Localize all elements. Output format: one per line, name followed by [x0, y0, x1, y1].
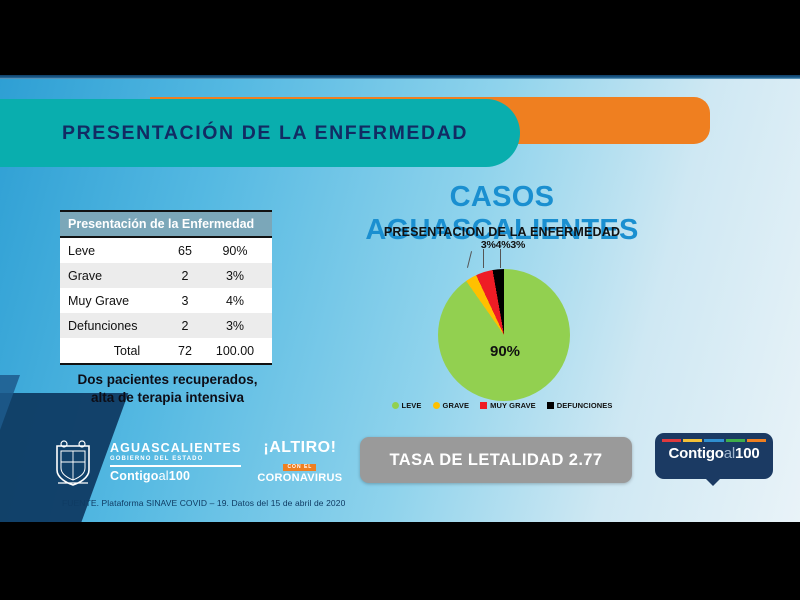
legend-swatch-grave — [433, 402, 440, 409]
cell-name: Total — [68, 344, 164, 358]
cell-count: 72 — [164, 344, 206, 358]
contigo-al: al — [724, 445, 735, 462]
header-teal-banner: PRESENTACIÓN DE LA ENFERMEDAD — [0, 99, 520, 167]
pie-outer-labels: 3%4%3% — [398, 239, 608, 251]
cell-count: 3 — [164, 294, 206, 308]
bar-yellow — [683, 439, 702, 442]
pie-leader-line-3 — [500, 249, 501, 268]
pie-chart: 90% — [420, 255, 590, 405]
banner-title: PRESENTACIÓN DE LA ENFERMEDAD — [62, 122, 468, 145]
chart-subtitle: PRESENTACION DE LA ENFERMEDAD — [322, 225, 682, 239]
legend-swatch-leve — [392, 402, 399, 409]
cell-count: 2 — [164, 319, 206, 333]
legend-item-grave: GRAVE — [433, 401, 470, 410]
source-footnote: FUENTE. Plataforma SINAVE COVID – 19. Da… — [62, 498, 345, 508]
gob-al: al — [159, 469, 169, 483]
letterbox-bottom — [0, 522, 800, 600]
aguascalientes-coat-of-arms-icon — [52, 438, 94, 486]
table-row: Defunciones 2 3% — [60, 313, 272, 338]
legend-item-muy-grave: MUY GRAVE — [480, 401, 536, 410]
gob-100: 100 — [169, 469, 190, 483]
pie-label-defunciones: 3% — [510, 239, 525, 251]
gob-line-2: GOBIERNO DEL ESTADO — [110, 456, 241, 462]
cell-percent: 3% — [206, 319, 264, 333]
cell-percent: 100.00 — [206, 344, 264, 358]
slide-screenshot: PRESENTACIÓN DE LA ENFERMEDAD Presentaci… — [0, 0, 800, 600]
legend-swatch-defunciones — [547, 402, 554, 409]
altiro-line-3: CORONAVIRUS — [257, 473, 342, 484]
gob-contigo: Contigo — [110, 469, 159, 483]
note-line-1: Dos pacientes recuperados, — [60, 371, 275, 389]
cell-percent: 90% — [206, 244, 264, 258]
table-header: Presentación de la Enfermedad — [60, 212, 272, 238]
cell-percent: 3% — [206, 269, 264, 283]
cell-name: Grave — [68, 269, 164, 283]
legend-item-defunciones: DEFUNCIONES — [547, 401, 613, 410]
legend-item-leve: LEVE — [392, 401, 422, 410]
table-row: Muy Grave 3 4% — [60, 288, 272, 313]
altiro-line-1: ¡ALTIRO! — [257, 440, 342, 456]
contigo-main: Contigo — [669, 445, 724, 462]
legend-swatch-muy-grave — [480, 402, 487, 409]
letterbox-top — [0, 0, 800, 75]
cell-count: 2 — [164, 269, 206, 283]
table-row: Grave 2 3% — [60, 263, 272, 288]
pie-disc — [438, 269, 570, 401]
table-row: Leve 65 90% — [60, 238, 272, 263]
gob-line-3: Contigoal100 — [110, 470, 241, 483]
gob-line-1: AGUASCALIENTES — [110, 442, 241, 455]
cell-name: Leve — [68, 244, 164, 258]
pie-label-grave: 3% — [481, 239, 496, 251]
gobierno-estado-logo: AGUASCALIENTES GOBIERNO DEL ESTADO Conti… — [110, 442, 241, 483]
pie-leader-line-2 — [483, 249, 484, 268]
footer-logos: AGUASCALIENTES GOBIERNO DEL ESTADO Conti… — [52, 438, 342, 486]
cell-name: Defunciones — [68, 319, 164, 333]
bar-blue — [704, 439, 723, 442]
legend-label-defunciones: DEFUNCIONES — [557, 401, 613, 410]
cell-count: 65 — [164, 244, 206, 258]
contigo-bubble-tail — [705, 478, 721, 486]
cell-percent: 4% — [206, 294, 264, 308]
cell-name: Muy Grave — [68, 294, 164, 308]
table-row-total: Total 72 100.00 — [60, 338, 272, 363]
bar-green — [726, 439, 745, 442]
contigo-al-100-logo: Contigoal100 — [655, 433, 773, 479]
fatality-rate-box: TASA DE LETALIDAD 2.77 — [360, 437, 632, 483]
pie-label-muy-grave: 4% — [496, 239, 511, 251]
note-line-2: alta de terapia intensiva — [60, 389, 275, 407]
legend-label-muy-grave: MUY GRAVE — [490, 401, 536, 410]
presentation-slide: PRESENTACIÓN DE LA ENFERMEDAD Presentaci… — [0, 75, 800, 522]
altiro-line-2: CON EL — [283, 464, 316, 471]
pie-label-leve: 90% — [470, 343, 540, 360]
legend-label-grave: GRAVE — [443, 401, 470, 410]
top-accent-line — [0, 75, 800, 79]
contigo-color-bars — [655, 433, 773, 442]
legend-label-leve: LEVE — [402, 401, 422, 410]
chart-legend: LEVE GRAVE MUY GRAVE DEFUNCIONES — [322, 401, 682, 410]
contigo-100: 100 — [735, 445, 759, 462]
disease-presentation-table: Presentación de la Enfermedad Leve 65 90… — [60, 210, 272, 365]
bar-orange — [747, 439, 766, 442]
bar-red — [662, 439, 681, 442]
gob-divider — [110, 465, 241, 467]
contigo-text: Contigoal100 — [655, 445, 773, 462]
altiro-coronavirus-logo: ¡ALTIRO! CON EL CORONAVIRUS — [257, 440, 342, 484]
recovered-patients-note: Dos pacientes recuperados, alta de terap… — [60, 371, 275, 407]
